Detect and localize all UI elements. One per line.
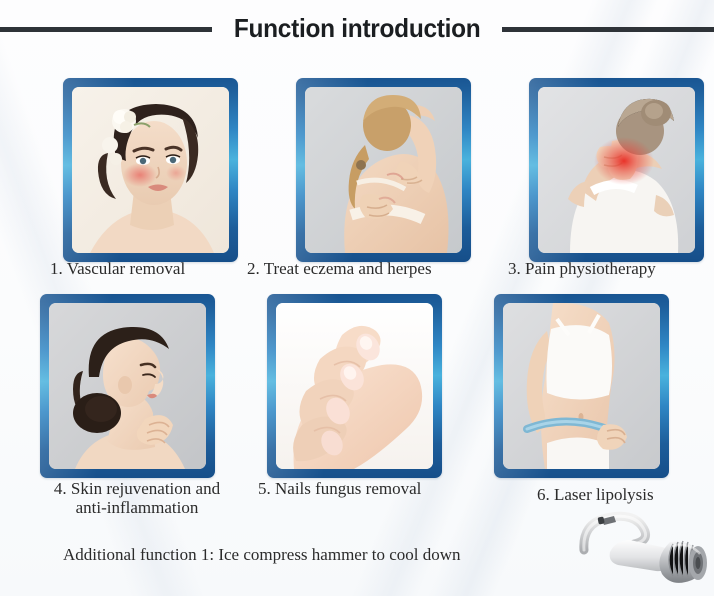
nails-fungus-photo [276, 303, 433, 469]
function-introduction-page: Function introduction [0, 0, 714, 596]
photo-frame-3 [529, 78, 704, 262]
function-cell-4 [40, 294, 215, 478]
function-row-1 [0, 78, 714, 262]
photo-frame-2 [296, 78, 471, 262]
caption-6: 6. Laser lipolysis [537, 485, 654, 504]
pain-physiotherapy-photo [538, 87, 695, 253]
skin-rejuvenation-photo [49, 303, 206, 469]
header-rule-right [502, 27, 714, 32]
photo-frame-6 [494, 294, 669, 478]
function-cell-6 [494, 294, 669, 478]
caption-5: 5. Nails fungus removal [258, 479, 421, 498]
eczema-herpes-photo [305, 87, 462, 253]
page-header: Function introduction [0, 0, 714, 56]
caption-3: 3. Pain physiotherapy [508, 259, 656, 278]
function-cell-3 [529, 78, 704, 262]
laser-lipolysis-photo [503, 303, 660, 469]
caption-4: 4. Skin rejuvenation and anti-inflammati… [22, 479, 252, 517]
function-cell-1 [63, 78, 238, 262]
caption-1: 1. Vascular removal [50, 259, 185, 278]
caption-2: 2. Treat eczema and herpes [247, 259, 432, 278]
page-title: Function introduction [234, 13, 481, 44]
vascular-removal-photo [72, 87, 229, 253]
photo-frame-1 [63, 78, 238, 262]
photo-frame-4 [40, 294, 215, 478]
ice-compress-hammer-handpiece [578, 506, 712, 592]
additional-function-note: Additional function 1: Ice compress hamm… [63, 545, 461, 565]
photo-frame-5 [267, 294, 442, 478]
header-rule-left [0, 27, 212, 32]
function-cell-2 [296, 78, 471, 262]
function-cell-5 [267, 294, 442, 478]
function-row-2 [0, 294, 714, 478]
